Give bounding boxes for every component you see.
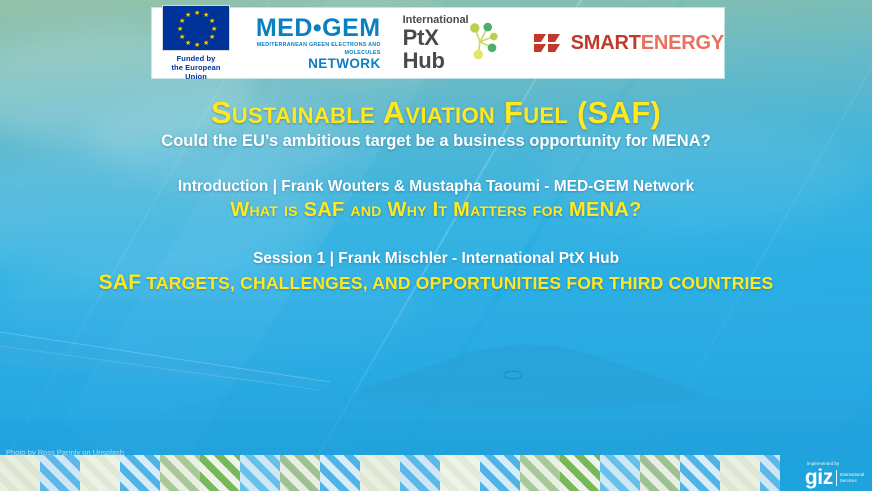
giz-sub-line2: Services <box>840 478 864 483</box>
medgem-network-word: NETWORK <box>248 57 381 71</box>
band-tile <box>120 455 160 491</box>
eu-flag-icon: ★ ★ ★ ★ ★ ★ ★ ★ ★ ★ ★ ★ <box>162 5 230 51</box>
session-intro: Introduction | Frank Wouters & Mustapha … <box>0 177 872 223</box>
medgem-name: MED•GEM <box>248 16 381 41</box>
band-tile <box>720 455 760 491</box>
page-subtitle: Could the EU’s ambitious target be a bus… <box>0 131 872 151</box>
giz-wordmark: giz <box>805 467 833 488</box>
band-tile <box>560 455 600 491</box>
giz-implemented-by: implemented by <box>807 461 839 467</box>
band-tile <box>80 455 120 491</box>
ptx-hub-logo: International PtX Hub <box>403 14 503 72</box>
band-tile <box>280 455 320 491</box>
eu-funding-logo: ★ ★ ★ ★ ★ ★ ★ ★ ★ ★ ★ ★ Funded by the Eu… <box>162 5 230 81</box>
giz-logo: implemented by giz International Service… <box>805 461 864 488</box>
eu-caption-line2: the European Union <box>162 63 230 81</box>
slide-content: Sustainable Aviation Fuel (SAF) Could th… <box>0 96 872 296</box>
eu-caption-line1: Funded by <box>162 54 230 63</box>
airplane-wing-graphic <box>0 330 872 460</box>
band-tile <box>0 455 40 491</box>
band-tile <box>520 455 560 491</box>
band-tile <box>320 455 360 491</box>
medgem-logo: MED•GEM MEDITERRANEAN GREEN ELECTRONS AN… <box>248 16 381 71</box>
band-tile <box>400 455 440 491</box>
session-one-title-rest: targets, challenges, and opportunities f… <box>141 273 773 293</box>
band-tile <box>200 455 240 491</box>
band-tile <box>480 455 520 491</box>
session-one-title: SAF targets, challenges, and opportuniti… <box>0 270 872 296</box>
band-tile <box>160 455 200 491</box>
eu-caption: Funded by the European Union <box>162 54 230 81</box>
band-tile <box>680 455 720 491</box>
smart-word-part1: SMART <box>571 32 641 54</box>
sponsor-logo-band: ★ ★ ★ ★ ★ ★ ★ ★ ★ ★ ★ ★ Funded by the Eu… <box>152 8 724 78</box>
presentation-slide: ★ ★ ★ ★ ★ ★ ★ ★ ★ ★ ★ ★ Funded by the Eu… <box>0 0 872 491</box>
session-one-speaker: Session 1 | Frank Mischler - Internation… <box>0 249 872 269</box>
molecule-icon <box>461 16 502 64</box>
band-tile <box>640 455 680 491</box>
smartenergy-logo: SMARTENERGY <box>533 31 724 55</box>
session-one: Session 1 | Frank Mischler - Internation… <box>0 249 872 296</box>
chevron-mark-icon <box>533 31 563 55</box>
session-intro-speaker: Introduction | Frank Wouters & Mustapha … <box>0 177 872 197</box>
session-one-title-lead: SAF <box>99 271 142 294</box>
smart-word-part2: ENERGY <box>641 32 724 54</box>
band-tile <box>440 455 480 491</box>
band-tile <box>360 455 400 491</box>
giz-divider <box>836 470 837 486</box>
band-tile <box>600 455 640 491</box>
band-tile <box>40 455 80 491</box>
medgem-tagline: MEDITERRANEAN GREEN ELECTRONS AND MOLECU… <box>248 41 381 57</box>
page-title: Sustainable Aviation Fuel (SAF) <box>0 96 872 130</box>
session-intro-title: What is SAF and Why It Matters for MENA? <box>0 198 872 223</box>
band-tile <box>240 455 280 491</box>
decorative-pattern-band <box>0 455 872 491</box>
